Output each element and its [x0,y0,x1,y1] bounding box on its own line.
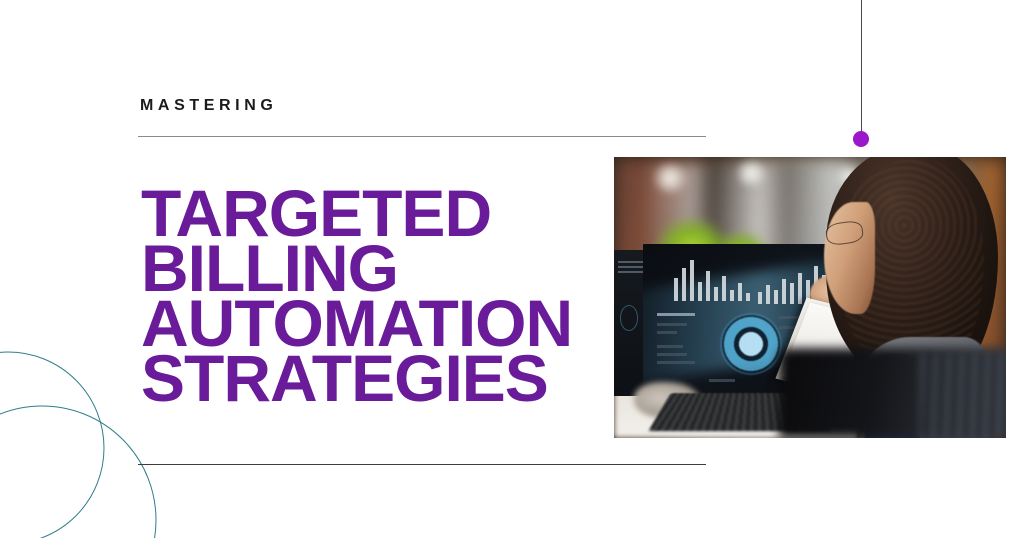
hero-photo [614,157,1006,438]
dashboard-donut-diagram [720,313,782,375]
dashboard-text-line-6 [657,361,695,364]
dashboard-text-line-7 [779,316,799,319]
dashboard-text-line-1 [657,313,695,316]
dashboard-text-line-4 [657,345,683,348]
dashboard-text-line-3 [657,331,677,334]
slide-canvas: MASTERING TARGETED BILLING AUTOMATION ST… [0,0,1024,538]
decorative-circle-small [0,406,156,538]
background-light-2 [736,160,766,186]
dashboard-text-line-2 [657,323,687,326]
dashboard-text-line-9 [709,379,735,382]
divider-bottom [138,464,706,465]
divider-top [138,136,706,137]
foreground-blur-edge [920,354,1006,438]
accent-dot-icon [853,131,869,147]
accent-vertical-line [861,0,862,133]
page-title: TARGETED BILLING AUTOMATION STRATEGIES [141,186,572,406]
background-light-1 [653,163,687,193]
dashboard-bar-chart-left [674,260,750,301]
eyebrow-text: MASTERING [140,98,277,114]
dashboard-text-line-5 [657,353,687,356]
photo-scene [614,157,1006,438]
headline-line-4: STRATEGIES [141,351,572,406]
decorative-circle-large [0,352,104,538]
